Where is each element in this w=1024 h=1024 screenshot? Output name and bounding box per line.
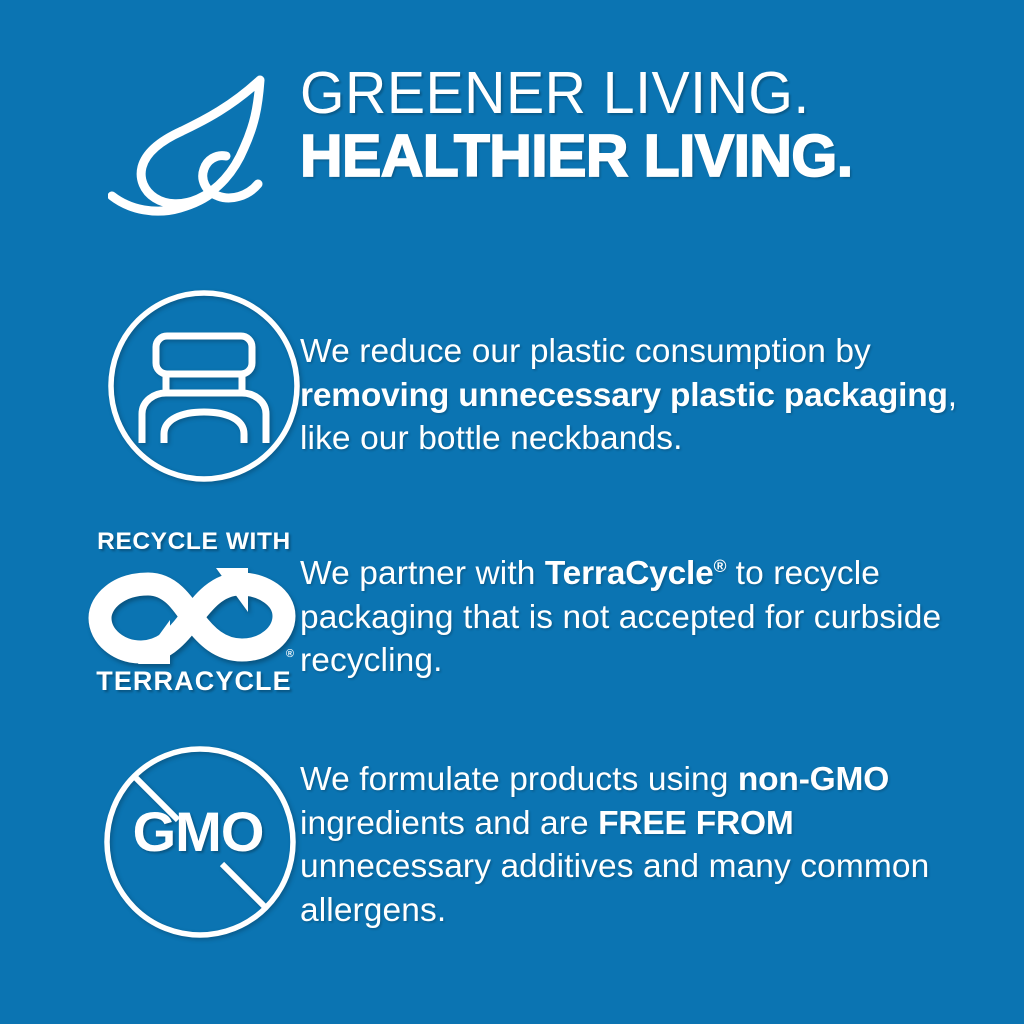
- registered-trademark-icon: ®: [714, 556, 727, 576]
- text-run: ingredients and are: [300, 805, 598, 842]
- icon-cell-terracycle: RECYCLE WITH ®: [0, 528, 300, 718]
- no-gmo-icon: [100, 742, 300, 942]
- infinity-recycle-arrows-icon: [88, 564, 300, 668]
- terracycle-top-text: RECYCLE WITH: [88, 528, 300, 556]
- benefit-row-plastic: We reduce our plastic consumption by rem…: [0, 286, 1024, 501]
- benefit-text-gmo: We formulate products using non-GMO ingr…: [300, 742, 984, 932]
- text-run-bold: TerraCycle: [545, 555, 714, 592]
- text-run: We formulate products using: [300, 761, 738, 798]
- benefit-row-gmo: GMO We formulate products using non-GMO …: [0, 742, 1024, 947]
- headline-block: GREENER LIVING. HEALTHIER LIVING.: [300, 62, 1000, 188]
- benefit-row-terracycle: RECYCLE WITH ®: [0, 528, 1024, 718]
- text-run-bold: FREE FROM: [598, 805, 793, 842]
- text-run: We partner with: [300, 555, 545, 592]
- poster-header: GREENER LIVING. HEALTHIER LIVING.: [0, 62, 1024, 232]
- benefit-text-plastic: We reduce our plastic consumption by rem…: [300, 286, 984, 461]
- text-run: unnecessary additives and many common al…: [300, 848, 929, 929]
- registered-trademark-icon: ®: [286, 648, 294, 660]
- text-run-bold: removing unnecessary plastic packaging: [300, 377, 948, 414]
- icon-cell-plastic: [0, 286, 300, 501]
- bottle-neckband-icon: [104, 286, 304, 486]
- terracycle-wordmark: TERRACYCLE: [88, 666, 300, 697]
- headline-line-1: GREENER LIVING.: [300, 62, 979, 124]
- leaf-icon: [108, 68, 298, 228]
- headline-line-2: HEALTHIER LIVING.: [300, 124, 1000, 188]
- greener-living-poster: GREENER LIVING. HEALTHIER LIVING.: [0, 0, 1024, 1024]
- text-run-bold: non-GMO: [738, 761, 889, 798]
- text-cell-plastic: We reduce our plastic consumption by rem…: [300, 286, 1024, 461]
- benefit-text-terracycle: We partner with TerraCycle® to recycle p…: [300, 528, 984, 683]
- text-cell-gmo: We formulate products using non-GMO ingr…: [300, 742, 1024, 932]
- icon-cell-gmo: GMO: [0, 742, 300, 947]
- terracycle-recycle-logo: RECYCLE WITH ®: [88, 528, 300, 710]
- text-cell-terracycle: We partner with TerraCycle® to recycle p…: [300, 528, 1024, 683]
- text-run: We reduce our plastic consumption by: [300, 333, 871, 370]
